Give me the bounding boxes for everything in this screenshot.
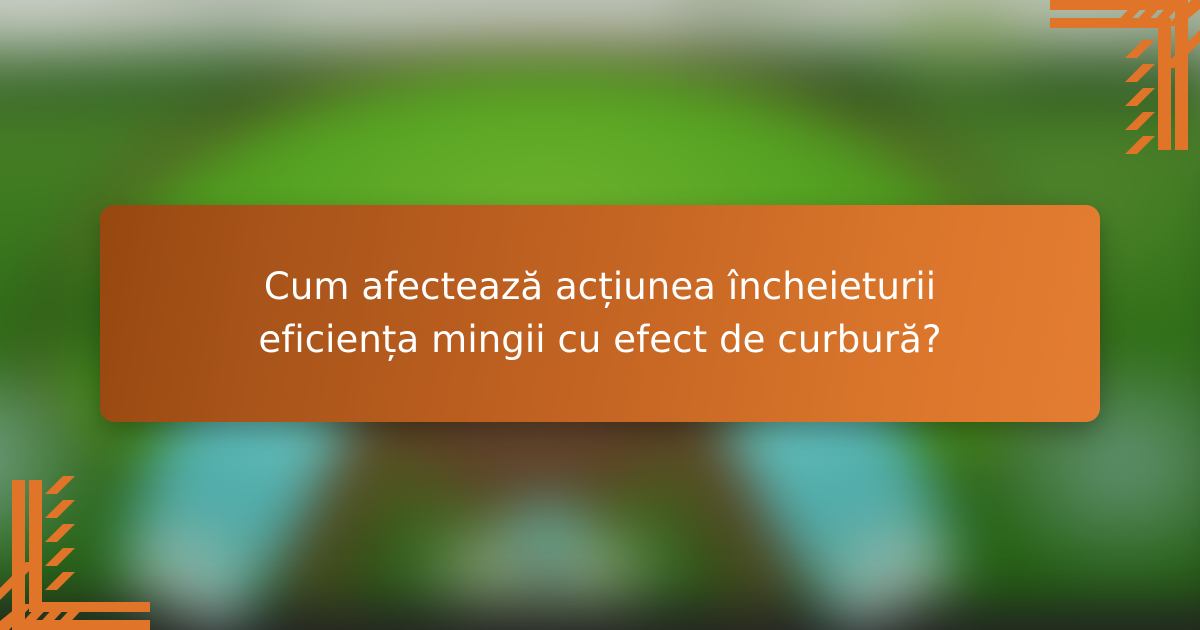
question-text: Cum afectează acțiunea încheieturii efic… xyxy=(200,261,1000,366)
left-edge-water-layer xyxy=(0,373,112,585)
home-plate-layer xyxy=(510,549,574,591)
share-card-canvas: Cum afectează acțiunea încheieturii efic… xyxy=(0,0,1200,630)
question-card: Cum afectează acțiunea încheieturii efic… xyxy=(100,205,1100,422)
highlight-blob-a xyxy=(854,0,1066,98)
